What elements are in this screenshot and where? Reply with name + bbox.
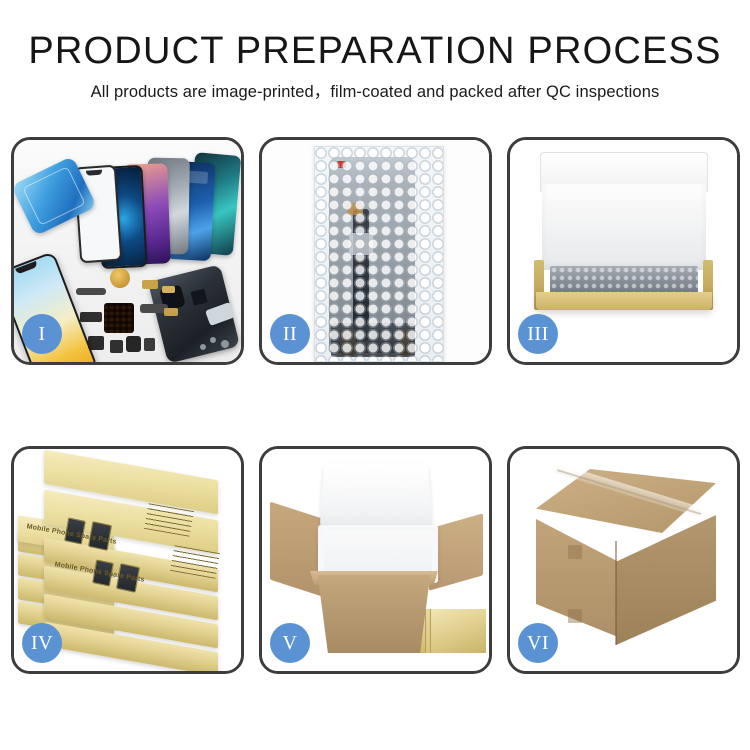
step-panel-5: V [259,446,492,674]
step-badge-3: III [518,314,558,354]
step-badge-5: V [270,623,310,663]
spare-part-icon [126,336,141,352]
foam-insert-icon [542,184,706,270]
spare-part-icon [76,288,106,295]
step-badge-2: II [270,314,310,354]
foam-lid-icon [320,463,432,527]
step-panel-4: Mobile Phone Spare Parts Mobile Phone Sp… [11,446,244,674]
carton-body-icon [310,575,438,653]
spare-part-icon [110,268,130,288]
header: PRODUCT PREPARATION PROCESS All products… [0,0,750,104]
spare-part-icon [142,280,158,289]
spare-part-icon [162,286,175,293]
process-steps-grid: I II [11,137,739,674]
carton-handle-tab-icon [568,609,582,623]
step-badge-4: IV [22,623,62,663]
step-panel-3: III [507,137,740,365]
carton-corner-edge-icon [615,541,617,645]
step-panel-1: I [11,137,244,365]
screen-base-icon [331,323,415,357]
product-preparation-infographic: PRODUCT PREPARATION PROCESS All products… [0,0,750,750]
page-title: PRODUCT PREPARATION PROCESS [0,28,750,74]
spare-part-icon [104,303,134,333]
qc-sticker-icon [337,161,346,168]
spare-part-icon [164,308,178,316]
carton-handle-tab-icon [568,545,582,559]
flex-cable-icon [353,209,369,341]
bubble-wrap-bag-icon [314,146,444,362]
gold-contact-icon [347,203,363,215]
connector-icon [349,233,373,255]
spare-part-icon [144,338,155,351]
page-subtitle: All products are image-printed，film-coat… [0,80,750,104]
step-badge-6: VI [518,623,558,663]
step-badge-1: I [22,314,62,354]
box-front-panel-icon [536,292,712,310]
gold-box-stack-icon [430,609,486,653]
spare-part-icon [80,312,102,322]
spare-part-icon [110,340,123,353]
step-panel-2: II [259,137,492,365]
spare-part-icon [221,340,229,348]
step-panel-6: VI [507,446,740,674]
